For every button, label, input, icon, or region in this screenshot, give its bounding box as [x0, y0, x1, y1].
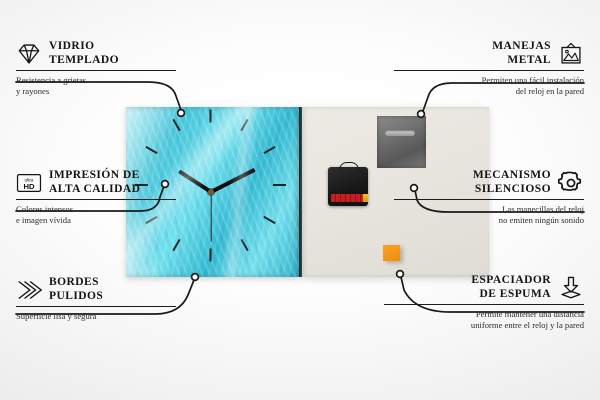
- callout-desc-line1: Permiten una fácil instalación: [394, 75, 584, 86]
- callout-heading: BORDES PULIDOS: [16, 276, 176, 303]
- callout-desc-line2: y rayones: [16, 86, 176, 97]
- battery-terminal: [363, 194, 368, 202]
- clock-tick: [210, 249, 212, 262]
- clock-center-hub: [208, 189, 214, 195]
- callout-manejas-metal: MANEJAS METAL Permiten una fácil instala…: [394, 40, 584, 96]
- callout-rule: [16, 70, 176, 71]
- callout-title-line1: MANEJAS: [492, 40, 551, 54]
- down-arrow-pad-icon: [558, 275, 584, 301]
- clock-tick: [263, 216, 275, 224]
- svg-text:HD: HD: [23, 182, 35, 191]
- clock-tick: [210, 110, 212, 123]
- callout-impresion-alta-calidad: ultra HD IMPRESIÓN DE ALTA CALIDAD Color…: [16, 169, 176, 225]
- callout-espaciador-espuma: ESPACIADOR DE ESPUMA Permite mantener un…: [384, 274, 584, 330]
- ultra-hd-icon: ultra HD: [16, 170, 42, 196]
- picture-frame-icon: [558, 41, 584, 67]
- callout-desc-line1: Superficie lisa y segura: [16, 311, 176, 322]
- callout-mecanismo-silencioso: MECANISMO SILENCIOSO Las manecillas del …: [394, 169, 584, 225]
- callout-title-line1: ESPACIADOR: [471, 274, 551, 288]
- callout-heading: MECANISMO SILENCIOSO: [394, 169, 584, 196]
- callout-desc-line1: Permite mantener una distancia: [384, 309, 584, 320]
- callout-desc-line2: no emiten ningún sonido: [394, 215, 584, 226]
- callout-title-line2: METAL: [492, 54, 551, 68]
- battery: [331, 194, 364, 202]
- callout-title-line1: IMPRESIÓN DE: [49, 169, 140, 183]
- clock-tick: [240, 119, 248, 131]
- callout-rule: [394, 70, 584, 71]
- callout-desc-line1: Resistencia a grietas: [16, 75, 176, 86]
- clock-tick: [273, 184, 286, 186]
- callout-title-line2: SILENCIOSO: [473, 183, 551, 197]
- callout-heading: MANEJAS METAL: [394, 40, 584, 67]
- clock-tick: [172, 119, 180, 131]
- callout-rule: [394, 199, 584, 200]
- callout-rule: [16, 199, 176, 200]
- foam-spacer: [383, 245, 400, 261]
- clock-minute-hand: [210, 168, 255, 194]
- diamond-icon: [16, 41, 42, 67]
- callout-desc-line2: e imagen vívida: [16, 215, 176, 226]
- callout-title-line1: VIDRIO: [49, 40, 119, 54]
- callout-title-line2: ALTA CALIDAD: [49, 183, 140, 197]
- clock-tick: [240, 239, 248, 251]
- clock-second-hand: [210, 192, 211, 242]
- callout-desc-line2: del reloj en la pared: [394, 86, 584, 97]
- callout-desc-line1: Las manecillas del reloj: [394, 204, 584, 215]
- callout-heading: ESPACIADOR DE ESPUMA: [384, 274, 584, 301]
- hanger-slot: [385, 130, 415, 136]
- callout-heading: VIDRIO TEMPLADO: [16, 40, 176, 67]
- callout-desc-line2: uniforme entre el reloj y la pared: [384, 320, 584, 331]
- callout-title-line1: BORDES: [49, 276, 103, 290]
- callout-rule: [16, 306, 176, 307]
- infographic-canvas: VIDRIO TEMPLADO Resistencia a grietas y …: [0, 0, 600, 400]
- callout-desc-line1: Colores intensos: [16, 204, 176, 215]
- clock-tick: [263, 146, 275, 154]
- callout-title-line2: TEMPLADO: [49, 54, 119, 68]
- clock-hour-hand: [178, 170, 212, 194]
- callout-bordes-pulidos: BORDES PULIDOS Superficie lisa y segura: [16, 276, 176, 322]
- diagonal-lines-icon: [16, 277, 42, 303]
- clock-tick: [145, 146, 157, 154]
- clock-mechanism: [328, 167, 368, 206]
- callout-title-line2: DE ESPUMA: [471, 288, 551, 302]
- callout-heading: ultra HD IMPRESIÓN DE ALTA CALIDAD: [16, 169, 176, 196]
- gear-icon: [558, 170, 584, 196]
- callout-rule: [384, 304, 584, 305]
- clock-tick: [172, 239, 180, 251]
- callout-title-line1: MECANISMO: [473, 169, 551, 183]
- mechanism-hook: [339, 162, 359, 170]
- metal-hanger-plate: [377, 116, 426, 168]
- callout-vidrio-templado: VIDRIO TEMPLADO Resistencia a grietas y …: [16, 40, 176, 96]
- callout-title-line2: PULIDOS: [49, 290, 103, 304]
